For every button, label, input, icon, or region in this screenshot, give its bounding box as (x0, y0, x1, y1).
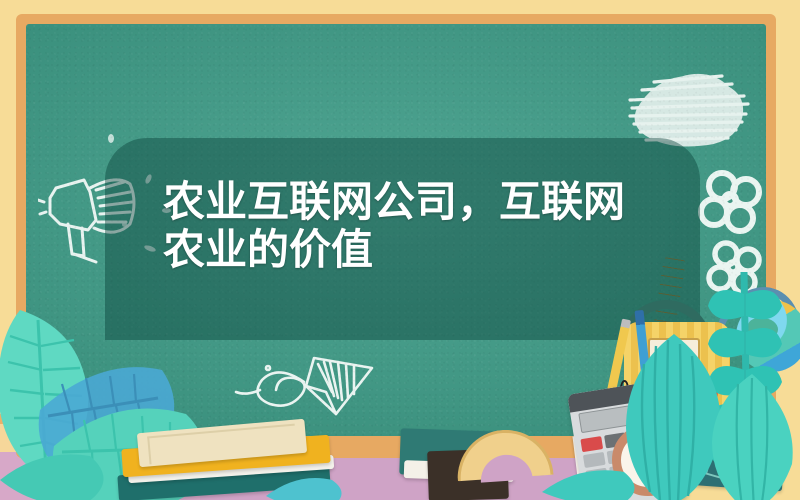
banner-canvas: 农业互联网公司，互联网农业的价值 (0, 0, 800, 500)
flower-doodle-large (692, 166, 766, 244)
leaf-decoration (264, 470, 354, 500)
page-title: 农业互联网公司，互联网农业的价值 (163, 178, 663, 274)
leaf-decoration (0, 440, 130, 500)
paper-plane-doodle (232, 352, 382, 432)
leaf-decoration (540, 462, 650, 500)
calculator-key (580, 436, 603, 452)
chalk-speck (108, 134, 114, 143)
headline-text: 农业互联网公司，互联网农业的价值 (163, 178, 625, 273)
leaf-decoration (704, 372, 800, 500)
